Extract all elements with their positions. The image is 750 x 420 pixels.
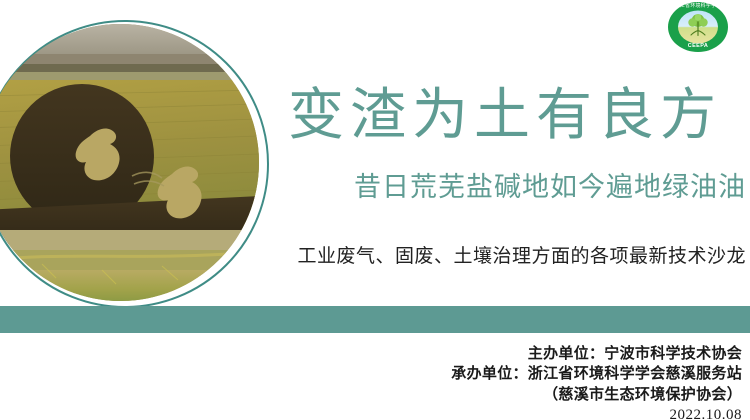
tree-icon	[685, 14, 711, 38]
logo-ring-text-top: 浙江省环境科学学会	[668, 4, 728, 9]
credits-co-organizer: 承办单位：浙江省环境科学学会慈溪服务站	[122, 364, 742, 384]
divider-band	[0, 306, 750, 333]
credits-co-organizer-note: （慈溪市生态环境保护协会）	[122, 385, 742, 405]
page-subtitle: 昔日荒芜盐碱地如今遍地绿油油	[268, 172, 746, 203]
logo-inner-disc	[678, 11, 718, 44]
page-description: 工业废气、固废、土壤治理方面的各项最新技术沙龙	[268, 246, 746, 269]
poster-canvas: 浙江省环境科学学会 CEEPA	[0, 0, 750, 420]
credits-block: 主办单位：宁波市科学技术协会 承办单位：浙江省环境科学学会慈溪服务站 （慈溪市生…	[122, 344, 742, 420]
credits-organizer: 主办单位：宁波市科学技术协会	[122, 344, 742, 364]
credits-date: 2022.10.08	[122, 405, 742, 420]
page-title: 变渣为土有良方	[268, 88, 742, 144]
association-logo: 浙江省环境科学学会 CEEPA	[668, 2, 728, 52]
logo-ring-text-bottom: CEEPA	[668, 44, 728, 50]
